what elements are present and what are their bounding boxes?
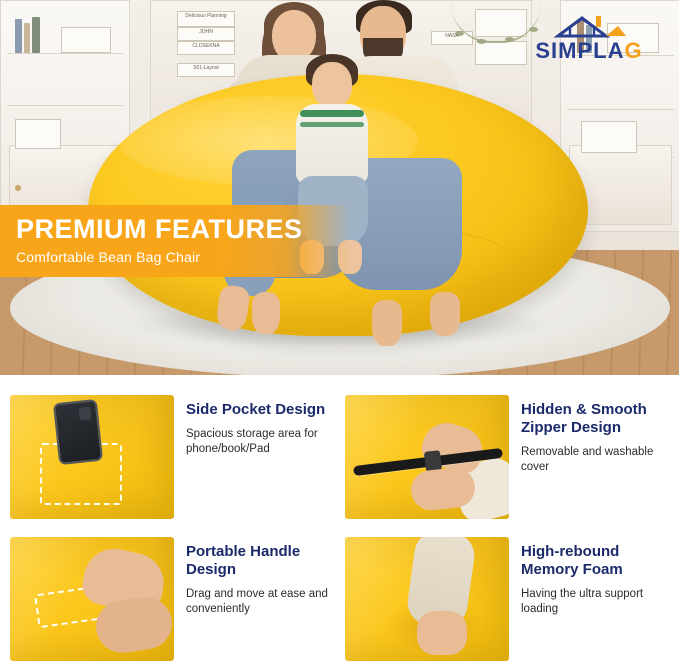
brand-logo-text: SIMPLAG [535, 40, 642, 62]
feature-image-memory-foam [345, 537, 509, 661]
feature-image-zipper [345, 395, 509, 519]
feature-image-handle [10, 537, 174, 661]
brand-logo: SIMPLAG [511, 14, 667, 74]
shelf-box [581, 121, 637, 153]
man-right-foot [430, 292, 460, 336]
child-shirt-stripe [300, 110, 364, 117]
feature-description: Spacious storage area for phone/book/Pad [186, 427, 336, 457]
feature-card-side-pocket: Side Pocket Design Spacious storage area… [10, 395, 336, 519]
feature-description: Removable and washable cover [521, 445, 671, 475]
child-shirt-stripe-2 [300, 122, 364, 127]
feature-description: Drag and move at ease and conveniently [186, 587, 336, 617]
shelf-label-3: CLOSEKNA [177, 41, 235, 55]
feature-grid: Side Pocket Design Spacious storage area… [0, 385, 679, 669]
feature-description: Having the ultra support loading [521, 587, 671, 617]
fist-icon [417, 611, 467, 655]
phone-icon [53, 399, 103, 465]
premium-features-banner: PREMIUM FEATURES Comfortable Bean Bag Ch… [0, 205, 350, 277]
banner-subtitle: Comfortable Bean Bag Chair [16, 249, 350, 265]
feature-title: Hidden & Smooth Zipper Design [521, 401, 671, 437]
house-roof-icon [552, 14, 626, 40]
shelf-box [15, 119, 61, 149]
feature-title: Side Pocket Design [186, 401, 336, 419]
child-head [312, 62, 352, 108]
brand-logo-accent: G [625, 38, 643, 63]
shelf-label-2: JOHN [177, 27, 235, 41]
shelf-label-4: S01-Layout [177, 63, 235, 77]
feature-card-memory-foam: High-rebound Memory Foam Having the ultr… [345, 537, 671, 661]
banner-title: PREMIUM FEATURES [16, 213, 350, 245]
feature-title: High-rebound Memory Foam [521, 543, 671, 579]
shelf-label-1: Delicious Planning [177, 11, 235, 27]
shelf-box [61, 27, 111, 53]
woman-right-foot [252, 292, 280, 334]
feature-card-handle: Portable Handle Design Drag and move at … [10, 537, 336, 661]
feature-title: Portable Handle Design [186, 543, 336, 579]
hero-image: Delicious Planning JOHN CLOSEKNA S01-Lay… [0, 0, 679, 375]
brand-logo-main: SIMPLA [535, 38, 624, 63]
feature-image-side-pocket [10, 395, 174, 519]
man-left-foot [372, 300, 402, 346]
feature-card-zipper: Hidden & Smooth Zipper Design Removable … [345, 395, 671, 519]
